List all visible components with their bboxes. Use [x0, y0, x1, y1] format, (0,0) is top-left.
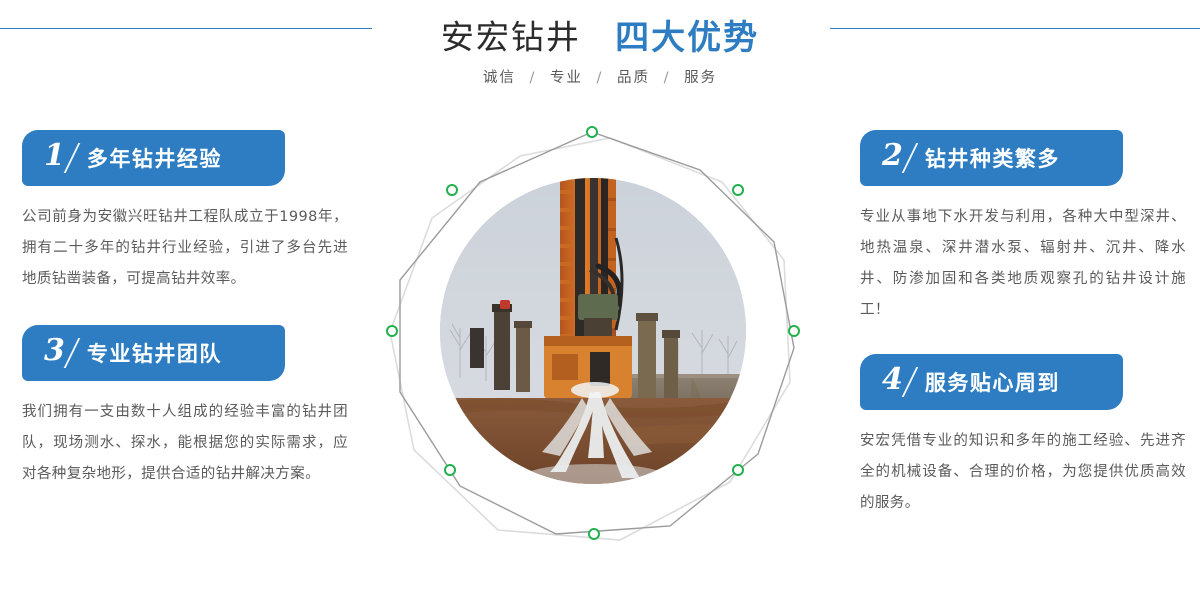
title-main: 安宏钻井	[441, 18, 581, 57]
vertex-marker-top	[587, 127, 597, 137]
vertex-marker-right	[789, 326, 799, 336]
feature-body-4: 安宏凭借专业的知识和多年的施工经验、先进齐全的机械设备、合理的价格，为您提供优质…	[860, 426, 1186, 519]
subtitle-separator-0: /	[522, 70, 543, 86]
feature-title-3: 专业钻井团队	[87, 338, 222, 368]
subtitle-item-3: 服务	[684, 70, 717, 86]
center-graphic	[370, 110, 830, 580]
vertex-marker-upper-left	[447, 185, 457, 195]
vertex-marker-lower-right	[733, 465, 743, 475]
feature-body-2: 专业从事地下水开发与利用，各种大中型深井、地热温泉、深井潜水泵、辐射井、沉井、降…	[860, 202, 1186, 326]
feature-number-icon-3: 3	[44, 336, 65, 366]
page-root: 安宏钻井 四大优势 诚信 / 专业 / 品质 / 服务 1 多年钻井经验 公司前…	[0, 0, 1200, 600]
feature-badge-1[interactable]: 1 多年钻井经验	[22, 130, 285, 186]
subtitle-item-2: 品质	[617, 70, 650, 86]
feature-body-3: 我们拥有一支由数十人组成的经验丰富的钻井团队，现场测水、探水，能根据您的实际需求…	[22, 397, 348, 490]
feature-badge-3[interactable]: 3 专业钻井团队	[22, 325, 285, 381]
subtitle-item-0: 诚信	[483, 70, 516, 86]
feature-card-4: 4 服务贴心周到 安宏凭借专业的知识和多年的施工经验、先进齐全的机械设备、合理的…	[860, 354, 1190, 519]
title-accent: 四大优势	[615, 18, 759, 58]
drilling-rig-photo	[440, 178, 746, 484]
subtitle-separator-2: /	[657, 70, 678, 86]
feature-badge-2[interactable]: 2 钻井种类繁多	[860, 130, 1123, 186]
slash-icon-3	[64, 338, 81, 368]
page-header: 安宏钻井 四大优势 诚信 / 专业 / 品质 / 服务	[0, 0, 1200, 112]
slash-icon-1	[64, 143, 81, 173]
feature-title-2: 钻井种类繁多	[925, 143, 1060, 173]
features-column-right: 2 钻井种类繁多 专业从事地下水开发与利用，各种大中型深井、地热温泉、深井潜水泵…	[860, 130, 1190, 537]
feature-card-1: 1 多年钻井经验 公司前身为安徽兴旺钻井工程队成立于1998年，拥有二十多年的钻…	[22, 130, 352, 295]
feature-card-2: 2 钻井种类繁多 专业从事地下水开发与利用，各种大中型深井、地热温泉、深井潜水泵…	[860, 130, 1190, 326]
feature-badge-4[interactable]: 4 服务贴心周到	[860, 354, 1123, 410]
features-column-left: 1 多年钻井经验 公司前身为安徽兴旺钻井工程队成立于1998年，拥有二十多年的钻…	[22, 130, 352, 508]
feature-number-icon-4: 4	[882, 365, 903, 395]
drilling-rig-illustration	[440, 178, 746, 484]
subtitle-separator-1: /	[590, 70, 611, 86]
slash-icon-4	[902, 367, 919, 397]
vertex-marker-bottom	[589, 529, 599, 539]
feature-title-4: 服务贴心周到	[925, 367, 1060, 397]
page-subtitle: 诚信 / 专业 / 品质 / 服务	[0, 66, 1200, 87]
slash-icon-2	[902, 143, 919, 173]
subtitle-item-1: 专业	[550, 70, 583, 86]
feature-number-icon-1: 1	[44, 141, 65, 171]
feature-card-3: 3 专业钻井团队 我们拥有一支由数十人组成的经验丰富的钻井团队，现场测水、探水，…	[22, 325, 352, 490]
vertex-marker-upper-right	[733, 185, 743, 195]
vertex-marker-lower-left	[445, 465, 455, 475]
vertex-marker-left	[387, 326, 397, 336]
feature-title-1: 多年钻井经验	[87, 143, 222, 173]
feature-body-1: 公司前身为安徽兴旺钻井工程队成立于1998年，拥有二十多年的钻井行业经验，引进了…	[22, 202, 348, 295]
page-title: 安宏钻井 四大优势	[0, 10, 1200, 59]
feature-number-icon-2: 2	[882, 141, 903, 171]
